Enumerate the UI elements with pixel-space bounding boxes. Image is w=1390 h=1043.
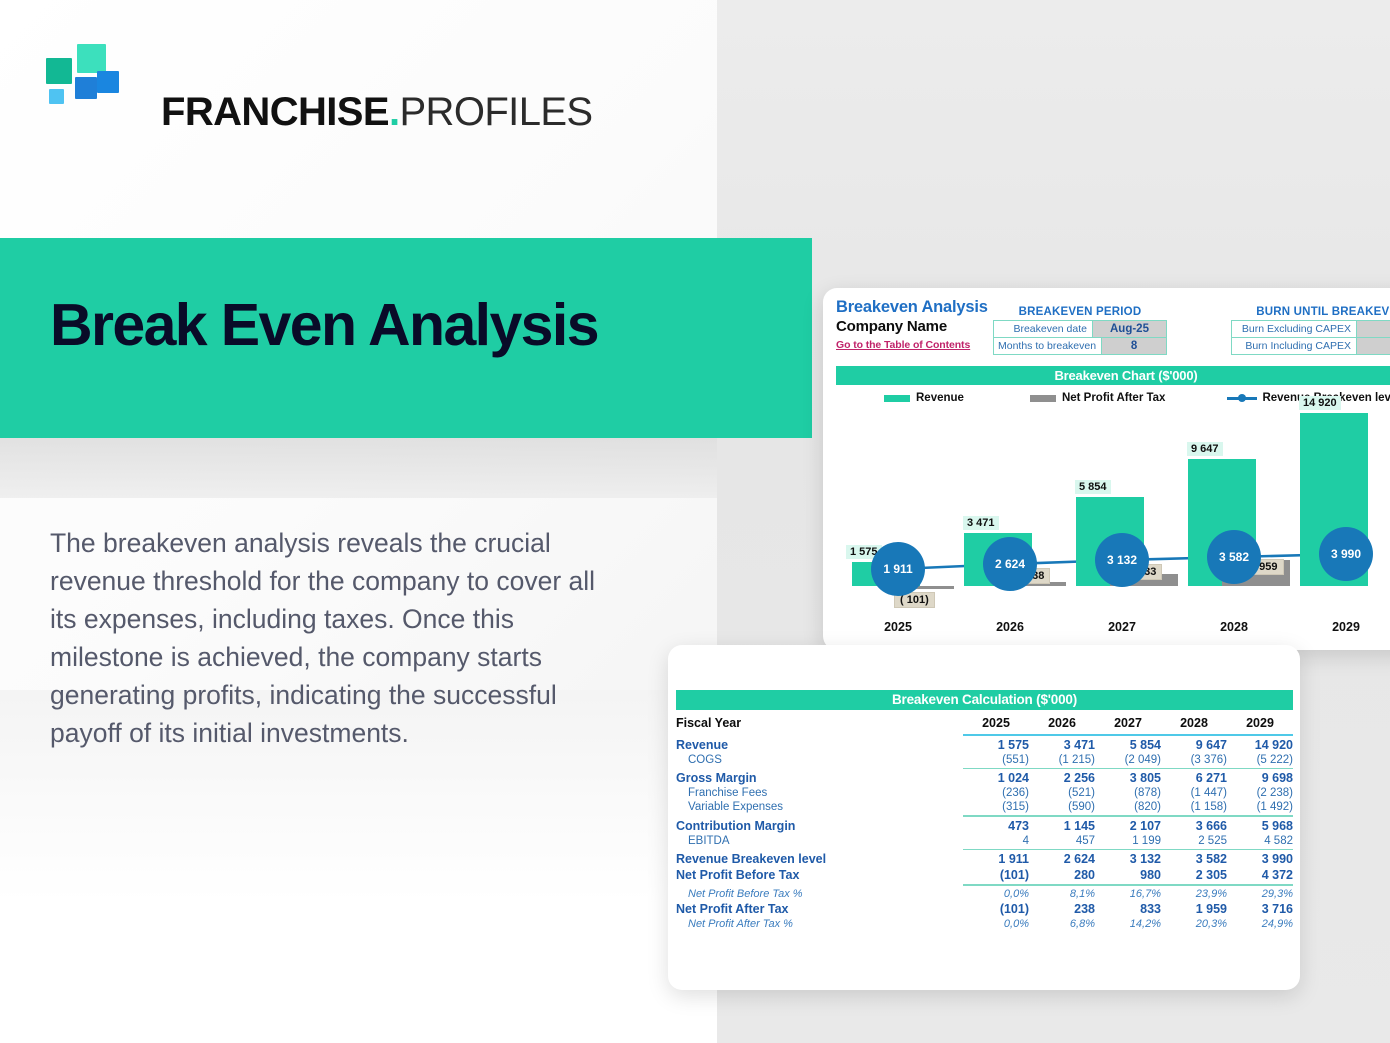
row-cell: (236) bbox=[963, 786, 1029, 800]
row-cell: 3 666 bbox=[1161, 818, 1227, 834]
table-header-fiscal-year: Fiscal Year bbox=[676, 715, 963, 733]
table-row: Revenue 1 575 3 471 5 854 9 647 14 920 bbox=[676, 737, 1293, 753]
breakeven-marker-2025: 1 911 bbox=[871, 542, 925, 596]
row-cell: 6 271 bbox=[1161, 770, 1227, 786]
table-header-year: 2029 bbox=[1227, 715, 1293, 733]
table-row: COGS (551) (1 215) (2 049) (3 376) (5 22… bbox=[676, 753, 1293, 767]
kpi-value bbox=[1356, 321, 1390, 337]
row-cell: 4 372 bbox=[1227, 867, 1293, 883]
row-cell: 1 911 bbox=[963, 851, 1029, 867]
row-cell: 2 525 bbox=[1161, 834, 1227, 848]
row-cell: (2 049) bbox=[1095, 753, 1161, 767]
row-cell: 457 bbox=[1029, 834, 1095, 848]
kpi-row: Months to breakeven 8 bbox=[993, 337, 1167, 355]
kpi-value bbox=[1356, 338, 1390, 354]
row-cell: (5 222) bbox=[1227, 753, 1293, 767]
label-revenue-2029: 14 920 bbox=[1299, 396, 1341, 410]
legend-line-marker-icon bbox=[1227, 393, 1257, 403]
legend-label: Net Profit After Tax bbox=[1062, 392, 1166, 404]
page-title: Break Even Analysis bbox=[50, 296, 598, 355]
logo-square-5 bbox=[49, 89, 64, 104]
row-cell: 6,8% bbox=[1029, 917, 1095, 931]
row-cell: 1 575 bbox=[963, 737, 1029, 753]
row-cell: (521) bbox=[1029, 786, 1095, 800]
table-of-contents-link[interactable]: Go to the Table of Contents bbox=[836, 339, 970, 351]
row-cell: 2 624 bbox=[1029, 851, 1095, 867]
row-cell: 3 471 bbox=[1029, 737, 1095, 753]
row-cell: 2 305 bbox=[1161, 867, 1227, 883]
row-cell: 20,3% bbox=[1161, 917, 1227, 931]
row-label: COGS bbox=[676, 753, 963, 767]
row-cell: 0,0% bbox=[963, 917, 1029, 931]
row-cell: 9 647 bbox=[1161, 737, 1227, 753]
brand-logo[interactable]: FRANCHISE.PROFILES bbox=[46, 44, 546, 106]
table-row: Net Profit Before Tax (101) 280 980 2 30… bbox=[676, 867, 1293, 883]
row-label: Contribution Margin bbox=[676, 818, 963, 834]
background-mid-band bbox=[0, 438, 717, 498]
row-cell: 3 582 bbox=[1161, 851, 1227, 867]
breakeven-marker-2028: 3 582 bbox=[1207, 530, 1261, 584]
row-label: Net Profit After Tax bbox=[676, 901, 963, 917]
table-rule bbox=[963, 734, 1293, 736]
legend-swatch-icon bbox=[884, 395, 910, 402]
row-cell: 5 854 bbox=[1095, 737, 1161, 753]
row-cell: 8,1% bbox=[1029, 887, 1095, 901]
row-cell: 29,3% bbox=[1227, 887, 1293, 901]
row-cell: 23,9% bbox=[1161, 887, 1227, 901]
logo-word-light: PROFILES bbox=[399, 90, 592, 134]
description-paragraph: The breakeven analysis reveals the cruci… bbox=[50, 524, 616, 752]
logo-square-2 bbox=[77, 44, 106, 73]
logo-square-3 bbox=[75, 77, 97, 99]
table-rule bbox=[963, 849, 1293, 851]
breakeven-marker-2027: 3 132 bbox=[1095, 533, 1149, 587]
table-row: Gross Margin 1 024 2 256 3 805 6 271 9 6… bbox=[676, 770, 1293, 786]
logo-word-dot: . bbox=[389, 90, 400, 134]
row-cell: (551) bbox=[963, 753, 1029, 767]
row-cell: 473 bbox=[963, 818, 1029, 834]
kpi-burn-until-breakeven: BURN UNTIL BREAKEVEN Burn Excluding CAPE… bbox=[1231, 306, 1390, 355]
x-axis-label-2028: 2028 bbox=[1194, 620, 1274, 634]
kpi-row: Breakeven date Aug-25 bbox=[993, 320, 1167, 337]
row-cell: 3 716 bbox=[1227, 901, 1293, 917]
x-axis-label-2029: 2029 bbox=[1306, 620, 1386, 634]
row-cell: 1 959 bbox=[1161, 901, 1227, 917]
row-cell: 2 107 bbox=[1095, 818, 1161, 834]
row-label: Gross Margin bbox=[676, 770, 963, 786]
row-cell: 1 024 bbox=[963, 770, 1029, 786]
kpi-value: 8 bbox=[1101, 338, 1166, 354]
row-cell: 5 968 bbox=[1227, 818, 1293, 834]
table-row: Net Profit Before Tax % 0,0% 8,1% 16,7% … bbox=[676, 887, 1293, 901]
label-revenue-2027: 5 854 bbox=[1075, 480, 1111, 494]
row-label: Variable Expenses bbox=[676, 800, 963, 814]
row-cell: 833 bbox=[1095, 901, 1161, 917]
x-axis-label-2027: 2027 bbox=[1082, 620, 1162, 634]
x-axis-label-2025: 2025 bbox=[858, 620, 938, 634]
legend-swatch-icon bbox=[1030, 395, 1056, 402]
row-label: Net Profit Before Tax % bbox=[676, 887, 963, 901]
table-rule bbox=[963, 815, 1293, 817]
row-cell: (101) bbox=[963, 901, 1029, 917]
kpi-row: Burn Excluding CAPEX bbox=[1231, 320, 1390, 337]
legend-item-revenue[interactable]: Revenue bbox=[884, 392, 964, 404]
row-label: Revenue Breakeven level bbox=[676, 851, 963, 867]
kpi-label: Burn Excluding CAPEX bbox=[1232, 321, 1356, 337]
row-cell: (1 447) bbox=[1161, 786, 1227, 800]
table-header-year: 2028 bbox=[1161, 715, 1227, 733]
row-cell: (3 376) bbox=[1161, 753, 1227, 767]
logo-word-bold: FRANCHISE bbox=[161, 90, 389, 134]
table-row: Net Profit After Tax (101) 238 833 1 959… bbox=[676, 901, 1293, 917]
label-revenue-2028: 9 647 bbox=[1187, 442, 1223, 456]
table-banner-title: Breakeven Calculation ($'000) bbox=[676, 690, 1293, 710]
logo-wordmark: FRANCHISE.PROFILES bbox=[161, 90, 593, 135]
row-cell: 14,2% bbox=[1095, 917, 1161, 931]
row-cell: 4 bbox=[963, 834, 1029, 848]
legend-label: Revenue bbox=[916, 392, 964, 404]
table-header-row: Fiscal Year 2025 2026 2027 2028 2029 bbox=[676, 715, 1293, 733]
row-cell: (820) bbox=[1095, 800, 1161, 814]
kpi-label: Burn Including CAPEX bbox=[1232, 338, 1356, 354]
kpi-value: Aug-25 bbox=[1092, 321, 1166, 337]
row-cell: (101) bbox=[963, 867, 1029, 883]
table-header-year: 2026 bbox=[1029, 715, 1095, 733]
row-cell: 9 698 bbox=[1227, 770, 1293, 786]
table-row: EBITDA 4 457 1 199 2 525 4 582 bbox=[676, 834, 1293, 848]
kpi-label: Months to breakeven bbox=[994, 338, 1101, 354]
table-rule bbox=[963, 768, 1293, 770]
row-cell: (1 492) bbox=[1227, 800, 1293, 814]
table-row: Franchise Fees (236) (521) (878) (1 447)… bbox=[676, 786, 1293, 800]
kpi-row: Burn Including CAPEX bbox=[1231, 337, 1390, 355]
row-label: Net Profit After Tax % bbox=[676, 917, 963, 931]
legend-item-npat[interactable]: Net Profit After Tax bbox=[1030, 392, 1166, 404]
breakeven-calculation-card: Breakeven Calculation ($'000) Fiscal Yea… bbox=[668, 645, 1300, 990]
row-cell: 280 bbox=[1029, 867, 1095, 883]
row-label: Net Profit Before Tax bbox=[676, 867, 963, 883]
row-cell: 14 920 bbox=[1227, 737, 1293, 753]
x-axis-label-2026: 2026 bbox=[970, 620, 1050, 634]
row-label: Revenue bbox=[676, 737, 963, 753]
row-cell: 4 582 bbox=[1227, 834, 1293, 848]
row-cell: (315) bbox=[963, 800, 1029, 814]
kpi-breakeven-heading: BREAKEVEN PERIOD bbox=[993, 306, 1167, 318]
chart-banner-title: Breakeven Chart ($'000) bbox=[836, 366, 1390, 385]
breakeven-chart-card: Breakeven Analysis Company Name Go to th… bbox=[823, 288, 1390, 650]
table-row: Revenue Breakeven level 1 911 2 624 3 13… bbox=[676, 851, 1293, 867]
table-row: Net Profit After Tax % 0,0% 6,8% 14,2% 2… bbox=[676, 917, 1293, 931]
row-cell: (590) bbox=[1029, 800, 1095, 814]
logo-square-1 bbox=[46, 58, 72, 84]
row-cell: (2 238) bbox=[1227, 786, 1293, 800]
row-cell: (1 158) bbox=[1161, 800, 1227, 814]
row-label: EBITDA bbox=[676, 834, 963, 848]
table-row: Contribution Margin 473 1 145 2 107 3 66… bbox=[676, 818, 1293, 834]
row-cell: 980 bbox=[1095, 867, 1161, 883]
row-cell: 238 bbox=[1029, 901, 1095, 917]
breakeven-marker-2026: 2 624 bbox=[983, 537, 1037, 591]
label-revenue-2026: 3 471 bbox=[963, 516, 999, 530]
row-cell: 0,0% bbox=[963, 887, 1029, 901]
row-cell: 1 145 bbox=[1029, 818, 1095, 834]
row-cell: 3 990 bbox=[1227, 851, 1293, 867]
row-cell: (878) bbox=[1095, 786, 1161, 800]
table-header-year: 2025 bbox=[963, 715, 1029, 733]
table-rule bbox=[963, 884, 1293, 886]
chart-plot-area: 1 575 ( 101) 1 911 2025 3 471 238 2 624 … bbox=[836, 414, 1390, 599]
breakeven-calculation-table: Fiscal Year 2025 2026 2027 2028 2029 Rev… bbox=[676, 715, 1293, 931]
row-cell: (1 215) bbox=[1029, 753, 1095, 767]
logo-mark-icon bbox=[46, 44, 108, 102]
row-cell: 3 805 bbox=[1095, 770, 1161, 786]
row-cell: 16,7% bbox=[1095, 887, 1161, 901]
row-cell: 1 199 bbox=[1095, 834, 1161, 848]
row-label: Franchise Fees bbox=[676, 786, 963, 800]
kpi-label: Breakeven date bbox=[994, 321, 1092, 337]
kpi-burn-heading: BURN UNTIL BREAKEVEN bbox=[1231, 306, 1390, 318]
kpi-breakeven-period: BREAKEVEN PERIOD Breakeven date Aug-25 M… bbox=[993, 306, 1167, 355]
breakeven-marker-2029: 3 990 bbox=[1319, 527, 1373, 581]
table-header-year: 2027 bbox=[1095, 715, 1161, 733]
table-row: Variable Expenses (315) (590) (820) (1 1… bbox=[676, 800, 1293, 814]
row-cell: 3 132 bbox=[1095, 851, 1161, 867]
row-cell: 24,9% bbox=[1227, 917, 1293, 931]
row-cell: 2 256 bbox=[1029, 770, 1095, 786]
logo-square-4 bbox=[97, 71, 119, 93]
